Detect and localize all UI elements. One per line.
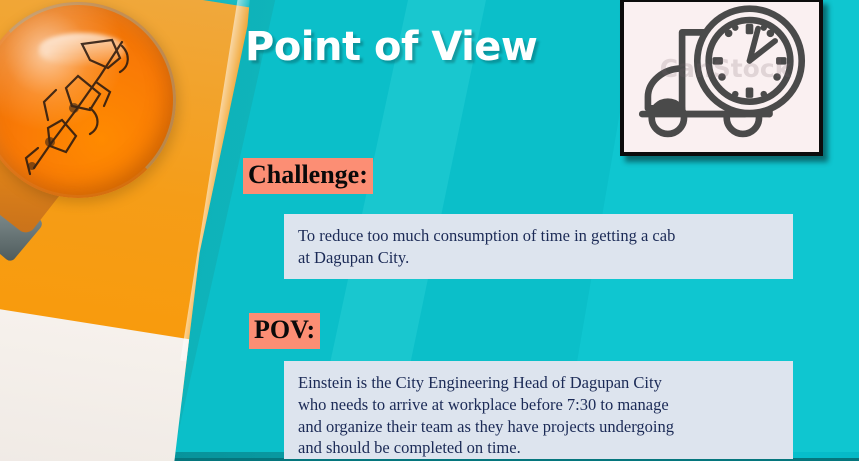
pov-line-4: and should be completed on time.	[298, 437, 779, 459]
pov-textbox: Einstein is the City Engineering Head of…	[284, 361, 793, 459]
pov-line-1: Einstein is the City Engineering Head of…	[298, 372, 779, 394]
delivery-truck-clock-icon: CanStock	[620, 0, 823, 156]
pov-line-2: who needs to arrive at workplace before …	[298, 394, 779, 416]
challenge-line-1: To reduce too much consumption of time i…	[298, 225, 779, 247]
lightbulb-filament	[4, 24, 154, 194]
pov-label: POV:	[249, 313, 320, 349]
pov-line-3: and organize their team as they have pro…	[298, 416, 779, 438]
truck-clock-illustration	[624, 2, 819, 152]
slide-canvas: Point of View Challenge: To reduce too m…	[0, 0, 859, 461]
challenge-label: Challenge:	[243, 158, 373, 194]
slide-title: Point of View	[245, 24, 537, 70]
challenge-line-2: at Dagupan City.	[298, 247, 779, 269]
challenge-textbox: To reduce too much consumption of time i…	[284, 214, 793, 279]
